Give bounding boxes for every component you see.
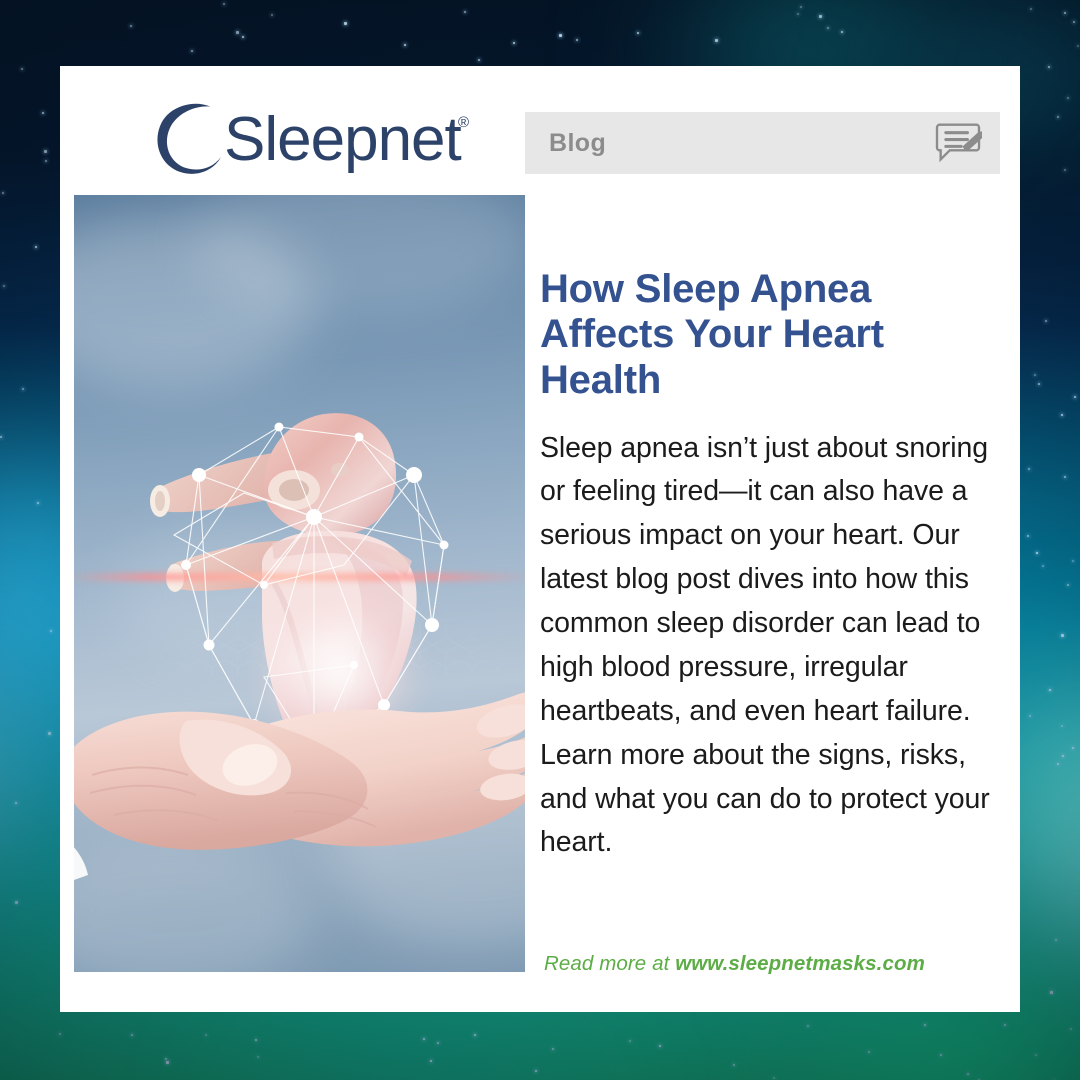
blog-write-icon[interactable] [934, 122, 982, 164]
sleepnet-wordmark: Sleepnet [224, 105, 462, 174]
read-more-cta[interactable]: Read more at www.sleepnetmasks.com [544, 952, 994, 976]
blog-label: Blog [549, 129, 606, 158]
cupped-hands-graphic [74, 625, 525, 972]
article-headline: How Sleep Apnea Affects Your Heart Healt… [540, 267, 970, 404]
website-url[interactable]: www.sleepnetmasks.com [675, 952, 925, 975]
content-card: Sleepnet ® Blog [60, 66, 1020, 1012]
read-more-prefix: Read more at [544, 952, 675, 975]
social-post-canvas: Sleepnet ® Blog [0, 0, 1080, 1080]
hands-icon [74, 625, 525, 972]
article-hero-image [74, 195, 525, 972]
blog-header-bar[interactable]: Blog [525, 112, 1000, 174]
article-body: Sleep apnea isn’t just about snoring or … [540, 427, 990, 866]
registered-trademark-symbol: ® [458, 114, 469, 131]
sleepnet-logo: Sleepnet ® [152, 96, 552, 182]
sleepnet-logo-icon: Sleepnet ® [152, 101, 482, 177]
